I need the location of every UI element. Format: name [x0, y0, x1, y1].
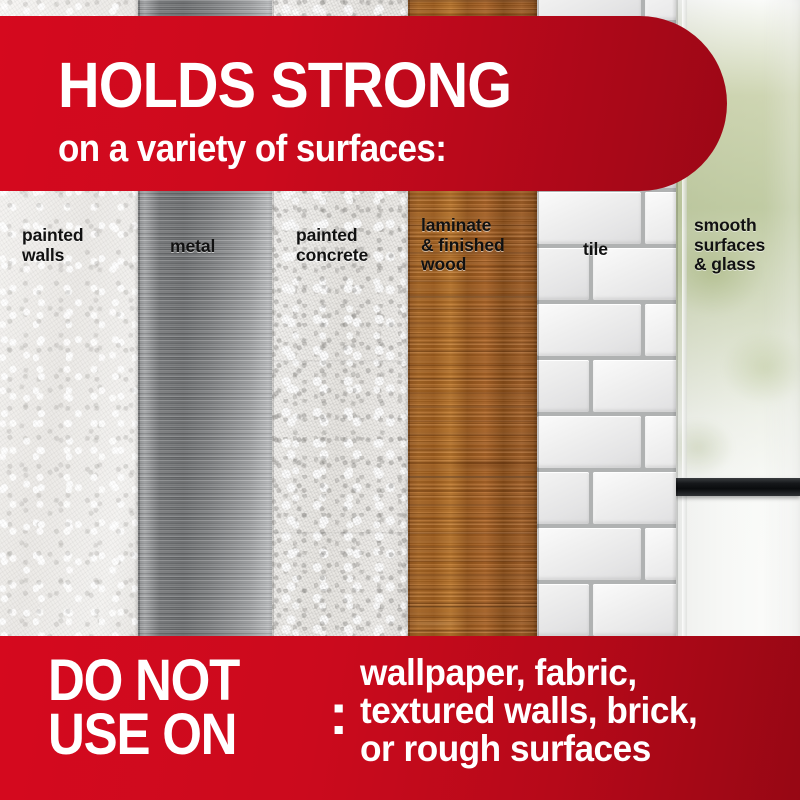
do-not-use-items: wallpaper, fabric, textured walls, brick…	[360, 654, 697, 768]
tile-row	[537, 302, 676, 358]
do-not-use-banner: DO NOT USE ON : wallpaper, fabric, textu…	[0, 636, 800, 800]
headline-holds-strong: HOLDS STRONG	[58, 54, 511, 116]
tile-row	[537, 582, 676, 638]
subhead-variety-of-surfaces: on a variety of surfaces:	[58, 129, 446, 169]
surface-label-smooth-glass: smooth surfaces & glass	[694, 216, 765, 275]
tile-piece	[645, 528, 676, 580]
holds-strong-banner: HOLDS STRONG on a variety of surfaces:	[0, 16, 727, 191]
tile-piece	[645, 304, 676, 356]
surface-label-laminate-wood: laminate & finished wood	[421, 216, 505, 275]
tile-piece	[593, 584, 676, 636]
surface-label-metal: metal	[170, 237, 215, 257]
tile-piece	[537, 304, 641, 356]
tile-row	[537, 358, 676, 414]
tile-piece	[537, 472, 589, 524]
tile-piece	[537, 528, 641, 580]
tile-piece	[537, 192, 641, 244]
infographic-canvas: painted walls metal painted concrete lam…	[0, 0, 800, 800]
tile-piece	[593, 360, 676, 412]
tile-piece	[537, 248, 589, 300]
tile-piece	[537, 360, 589, 412]
window-frame-bar	[676, 478, 800, 496]
tile-piece	[645, 192, 676, 244]
tile-piece	[537, 584, 589, 636]
tile-row	[537, 526, 676, 582]
surface-label-tile: tile	[583, 240, 608, 260]
tile-row	[537, 190, 676, 246]
surface-label-painted-concrete: painted concrete	[296, 226, 368, 265]
do-not-use-on-label: DO NOT USE ON	[48, 654, 239, 762]
tile-piece	[593, 472, 676, 524]
tile-piece	[645, 416, 676, 468]
tile-piece	[537, 416, 641, 468]
tile-row	[537, 470, 676, 526]
surface-label-painted-walls: painted walls	[22, 226, 84, 265]
do-not-use-colon: :	[329, 688, 348, 742]
tile-row	[537, 414, 676, 470]
